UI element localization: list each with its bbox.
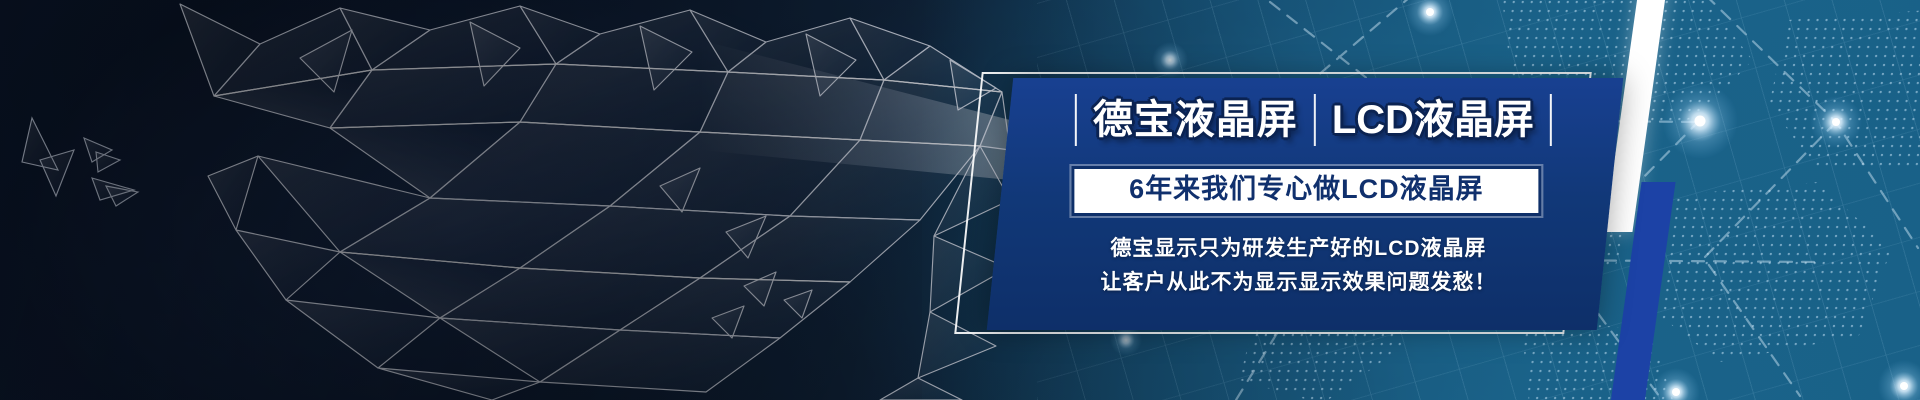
subline-group: 德宝显示只为研发生产好的LCD液晶屏 让客户从此不为显示显示效果问题发愁！ xyxy=(1101,232,1497,300)
headline-row: 德宝液晶屏 LCD液晶屏 xyxy=(1075,94,1552,146)
product-title: LCD液晶屏 xyxy=(1316,100,1550,140)
divider-right xyxy=(1550,94,1552,146)
subline-2: 让客户从此不为显示显示效果问题发愁！ xyxy=(1101,266,1497,300)
subline-1: 德宝显示只为研发生产好的LCD液晶屏 xyxy=(1101,232,1497,266)
highlight-text: 6年来我们专心做LCD液晶屏 xyxy=(1129,175,1484,205)
panel-content: 德宝液晶屏 LCD液晶屏 6年来我们专心做LCD液晶屏 德宝显示只为研发生产好的… xyxy=(987,78,1623,330)
brand-title: 德宝液晶屏 xyxy=(1077,100,1314,140)
promo-panel: 德宝液晶屏 LCD液晶屏 6年来我们专心做LCD液晶屏 德宝显示只为研发生产好的… xyxy=(0,0,1920,400)
highlight-box: 6年来我们专心做LCD液晶屏 xyxy=(1071,166,1541,216)
highlight-box-inner: 6年来我们专心做LCD液晶屏 xyxy=(1071,166,1541,216)
hero-banner: 德宝液晶屏 LCD液晶屏 6年来我们专心做LCD液晶屏 德宝显示只为研发生产好的… xyxy=(0,0,1920,400)
